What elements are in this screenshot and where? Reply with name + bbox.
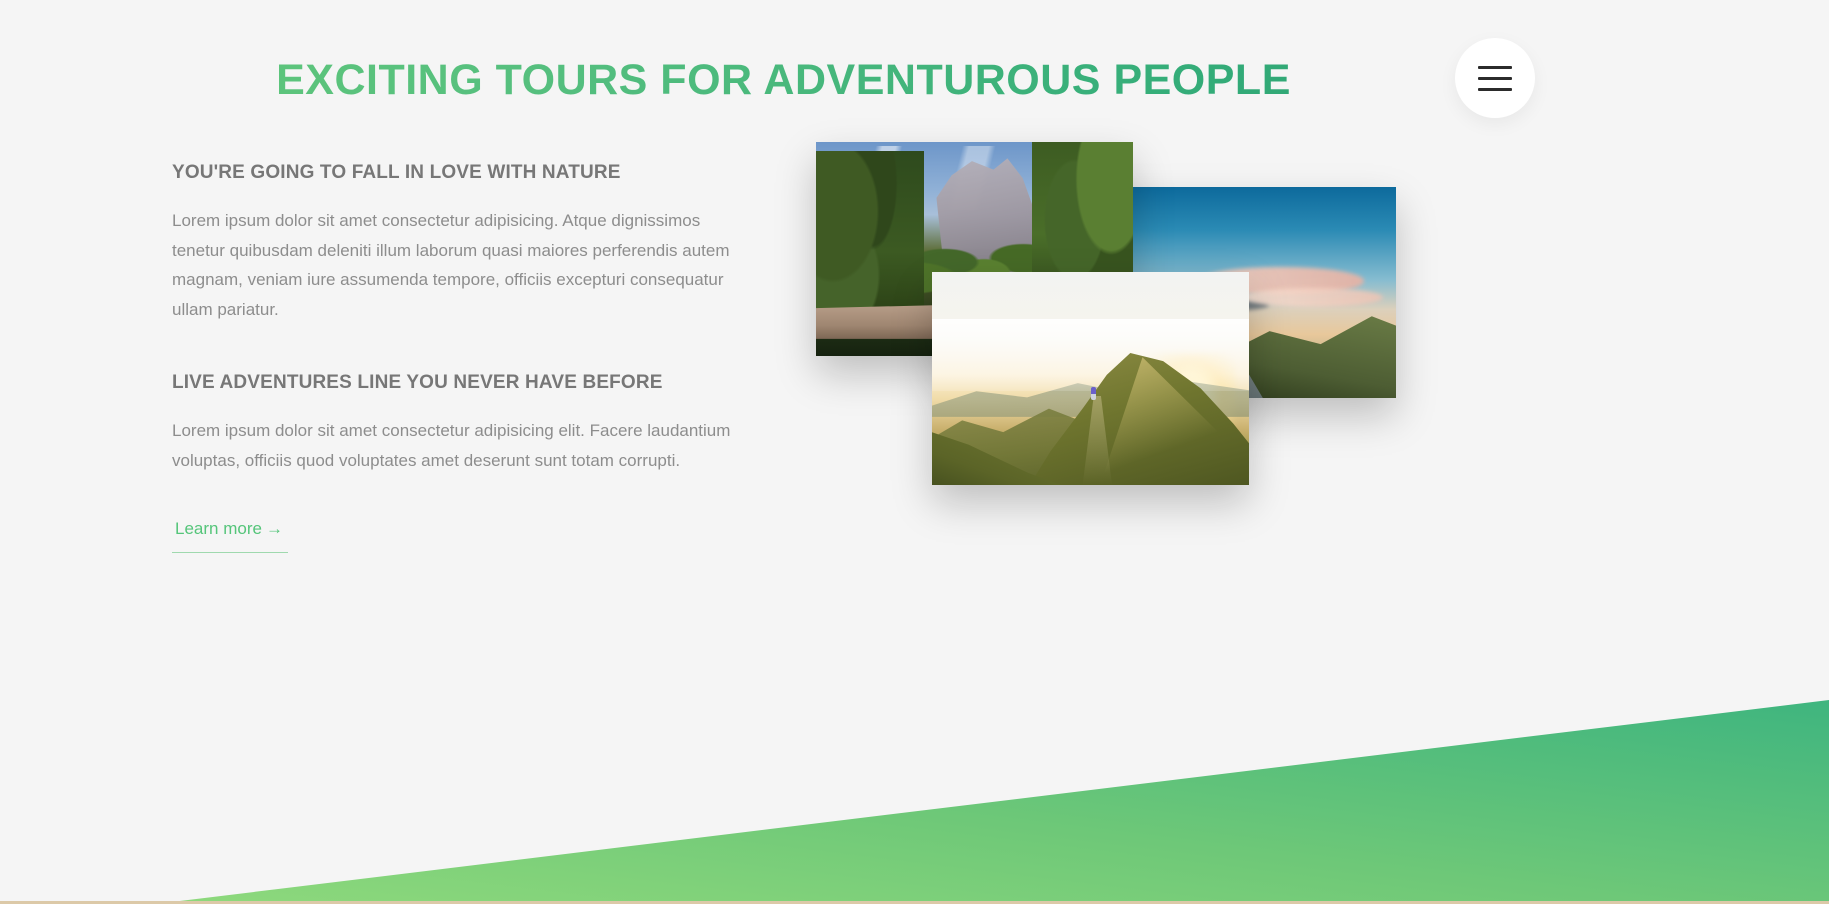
learn-more-link[interactable]: Learn more→ <box>172 513 288 553</box>
feature-body-nature: Lorem ipsum dolor sit amet consectetur a… <box>172 206 738 324</box>
page-root: EXCITING TOURS FOR ADVENTUROUS PEOPLE YO… <box>0 0 1829 904</box>
hamburger-bar-3 <box>1478 88 1512 91</box>
learn-more-label: Learn more <box>175 519 262 538</box>
feature-heading-nature: YOU'RE GOING TO FALL IN LOVE WITH NATURE <box>172 160 752 186</box>
hamburger-bar-1 <box>1478 66 1512 69</box>
pink-cloud-layer-2 <box>1244 288 1383 307</box>
feature-heading-adventures: LIVE ADVENTURES LINE YOU NEVER HAVE BEFO… <box>172 370 752 396</box>
feature-body-adventures: Lorem ipsum dolor sit amet consectetur a… <box>172 416 738 475</box>
green-diagonal-wedge <box>0 600 1829 904</box>
hamburger-bar-2 <box>1478 77 1512 80</box>
hiker-figure <box>1091 387 1096 400</box>
sunrise-ridge-hiker-photo[interactable] <box>932 272 1249 485</box>
hamburger-menu-icon[interactable] <box>1455 38 1535 118</box>
feature-text-column: YOU'RE GOING TO FALL IN LOVE WITH NATURE… <box>172 160 752 553</box>
haze-layer <box>932 319 1249 391</box>
page-title: EXCITING TOURS FOR ADVENTUROUS PEOPLE <box>0 53 1567 107</box>
arrow-right-icon: → <box>266 519 283 538</box>
